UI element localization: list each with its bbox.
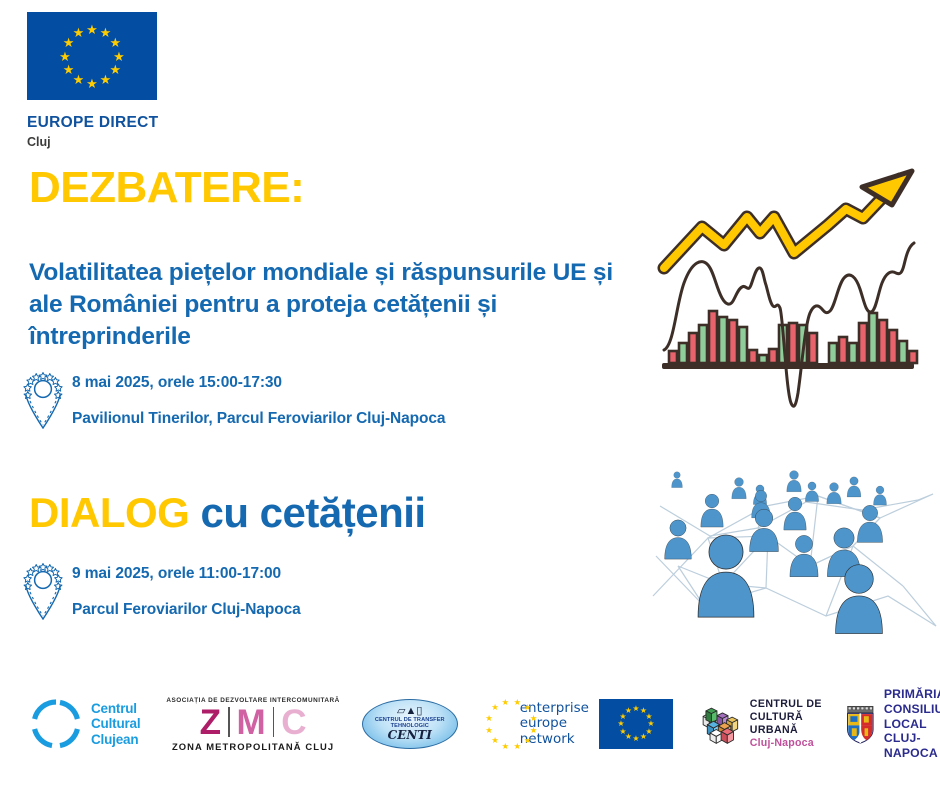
logo-european-union-flag[interactable]: ★★★★★★★★★★★★ bbox=[589, 684, 673, 764]
eu-star-icon: ★ bbox=[491, 703, 499, 712]
logo-centrul-de-cultura-urbana[interactable]: CENTRUL DE CULTURĂ URBANĂ Cluj-Napoca bbox=[699, 684, 822, 764]
eu-star-icon: ★ bbox=[624, 707, 632, 715]
poster-canvas: ★★★★★★★★★★★★ EUROPE DIRECT Cluj DEZBATER… bbox=[0, 0, 940, 788]
eu-star-icon: ★ bbox=[639, 733, 647, 741]
ccc-line2: Cultural bbox=[91, 716, 140, 732]
eu-star-icon: ★ bbox=[109, 36, 122, 49]
event1-kicker: DEZBATERE: bbox=[29, 163, 304, 213]
eu-star-icon: ★ bbox=[502, 742, 510, 751]
logo-centrul-transfer-tehnologic-centi[interactable]: ▱▲▯ CENTRUL DE TRANSFER TEHNOLOGIC CENTI bbox=[362, 684, 458, 764]
citizens-network-illustration bbox=[648, 466, 938, 641]
eu-star-icon: ★ bbox=[113, 50, 126, 63]
eu-star-icon: ★ bbox=[72, 26, 85, 39]
eu-star-icon: ★ bbox=[62, 63, 75, 76]
location-pin-icon bbox=[20, 559, 66, 621]
eu-star-icon: ★ bbox=[86, 77, 99, 90]
eu-star-icon: ★ bbox=[524, 703, 532, 712]
zmc-bottom-text: ZONA METROPOLITANĂ CLUJ bbox=[166, 741, 339, 752]
eu-star-icon: ★ bbox=[86, 23, 99, 36]
eu-star-icon: ★ bbox=[485, 726, 493, 735]
eu-star-icon: ★ bbox=[513, 698, 521, 707]
event1-venue: Pavilionul Tinerilor, Parcul Feroviarilo… bbox=[72, 410, 445, 428]
market-volatility-chart-illustration bbox=[650, 165, 935, 415]
logo-zona-metropolitana-cluj[interactable]: ASOCIAȚIA DE DEZVOLTARE INTERCOMUNITARĂ … bbox=[166, 684, 339, 764]
ccc-line3: Clujean bbox=[91, 732, 140, 748]
logo-centrul-cultural-clujean[interactable]: Centrul Cultural Clujean bbox=[30, 684, 140, 764]
europe-direct-city: Cluj bbox=[27, 135, 227, 149]
location-pin-icon bbox=[20, 368, 66, 430]
zmc-divider bbox=[273, 707, 275, 737]
event2-venue: Parcul Feroviarilor Cluj-Napoca bbox=[72, 601, 301, 619]
eu-star-icon: ★ bbox=[99, 73, 112, 86]
eu-star-icon: ★ bbox=[619, 728, 627, 736]
europe-direct-name: EUROPE DIRECT bbox=[27, 114, 227, 132]
eu-star-icon: ★ bbox=[485, 714, 493, 723]
city-crest-icon bbox=[844, 696, 877, 752]
isometric-blocks-icon bbox=[699, 695, 742, 753]
event2-date: 9 mai 2025, orele 11:00-17:00 bbox=[72, 565, 301, 583]
eu-star-icon: ★ bbox=[491, 736, 499, 745]
primaria-line3: CLUJ-NAPOCA bbox=[884, 731, 940, 761]
event2-kicker: DIALOG cu cetățenii bbox=[29, 489, 426, 537]
ccu-line1: CENTRUL DE bbox=[750, 698, 822, 711]
eu-stars-arc-icon: ★★★★★★★★★★★★ bbox=[482, 700, 526, 748]
zmc-letter-m: M bbox=[237, 705, 266, 740]
ccu-line2: CULTURĂ URBANĂ bbox=[750, 711, 822, 737]
eu-star-icon: ★ bbox=[530, 714, 538, 723]
zmc-letters: Z M C bbox=[166, 705, 339, 740]
primaria-line1: PRIMĂRIA ȘI bbox=[884, 687, 940, 702]
eu-star-icon: ★ bbox=[59, 50, 72, 63]
ccu-line3: Cluj-Napoca bbox=[750, 737, 822, 750]
book-icon: ▱▲▯ bbox=[397, 707, 422, 716]
event1-date: 8 mai 2025, orele 15:00-17:30 bbox=[72, 374, 445, 392]
zmc-divider bbox=[228, 707, 230, 737]
logo-primaria-cluj-napoca[interactable]: PRIMĂRIA ȘI CONSILIUL LOCAL CLUJ-NAPOCA bbox=[844, 684, 940, 764]
event2-details: 9 mai 2025, orele 11:00-17:00 Parcul Fer… bbox=[20, 559, 301, 621]
eu-star-icon: ★ bbox=[524, 736, 532, 745]
eu-star-icon: ★ bbox=[530, 726, 538, 735]
event1-title: Volatilitatea piețelor mondiale și răspu… bbox=[29, 257, 629, 353]
ring-icon bbox=[30, 698, 82, 750]
zmc-letter-z: Z bbox=[200, 705, 221, 740]
eu-star-icon: ★ bbox=[502, 698, 510, 707]
eu-star-icon: ★ bbox=[617, 720, 625, 728]
eu-flag-icon: ★★★★★★★★★★★★ bbox=[599, 699, 673, 749]
zmc-letter-c: C bbox=[281, 705, 306, 740]
centi-line3: CENTI bbox=[388, 729, 432, 742]
eu-flag-icon: ★★★★★★★★★★★★ bbox=[27, 12, 157, 100]
primaria-line2: CONSILIUL LOCAL bbox=[884, 702, 940, 732]
eu-star-icon: ★ bbox=[513, 742, 521, 751]
event1-details: 8 mai 2025, orele 15:00-17:30 Pavilionul… bbox=[20, 368, 445, 430]
europe-direct-logo: ★★★★★★★★★★★★ EUROPE DIRECT Cluj bbox=[27, 12, 227, 149]
partner-logos-bar: Centrul Cultural Clujean ASOCIAȚIA DE DE… bbox=[0, 676, 940, 772]
ccc-line1: Centrul bbox=[91, 701, 140, 717]
eu-star-icon: ★ bbox=[632, 735, 640, 743]
event2-kicker-rest: cu cetățenii bbox=[189, 489, 425, 536]
event2-kicker-highlight: DIALOG bbox=[29, 489, 189, 536]
logo-enterprise-europe-network[interactable]: ★★★★★★★★★★★★ enterprise europe network bbox=[482, 684, 589, 764]
